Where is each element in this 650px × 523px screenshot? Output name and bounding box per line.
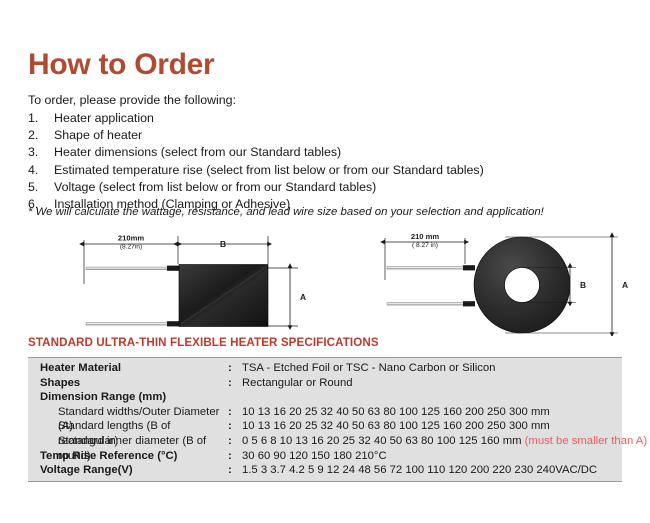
table-row: Temp Rise Reference (°C) : 30 60 90 120 …: [28, 449, 622, 464]
round-outer-diameter-label: A: [622, 280, 628, 290]
spec-row-colon: :: [228, 463, 242, 478]
rect-height-label: A: [300, 292, 306, 302]
round-heater-diagram: 210 mm ( 8.27 in) B A: [385, 232, 628, 333]
spec-row-label: Shapes: [28, 376, 228, 391]
round-heater-hole: [505, 268, 540, 303]
spec-row-colon: :: [228, 361, 242, 376]
spec-row-colon: :: [228, 376, 242, 391]
heater-diagrams: 210mm (8.27in) B A: [0, 228, 650, 336]
table-row: Standard widths/Outer Diameter (A) : 10 …: [28, 405, 622, 420]
spec-row-label: Heater Material: [28, 361, 228, 376]
spec-row-colon: :: [228, 434, 242, 449]
list-item: 5. Voltage (select from list below or fr…: [28, 179, 588, 196]
table-row: Standard lengths (B of rectangular) : 10…: [28, 419, 622, 434]
spec-row-value-text: 0 5 6 8 10 13 16 20 25 32 40 50 63 80 10…: [242, 435, 525, 447]
page-title: How to Order: [28, 50, 214, 80]
round-lead-length-mm-label: 210 mm: [411, 232, 440, 241]
round-inner-diameter-label: B: [580, 280, 586, 290]
spec-row-value: 1.5 3 3.7 4.2 5 9 12 24 48 56 72 100 110…: [242, 463, 622, 478]
rectangular-heater-diagram: 210mm (8.27in) B A: [84, 234, 306, 327]
list-item-label: Heater dimensions (select from our Stand…: [54, 144, 588, 161]
spec-row-label: Dimension Range (mm): [28, 390, 228, 405]
rect-lead-length-in-label: (8.27in): [120, 244, 142, 251]
list-item-number: 2.: [28, 127, 54, 144]
intro-text: To order, please provide the following:: [28, 93, 236, 109]
list-item-number: 3.: [28, 144, 54, 161]
spec-row-value-note: (must be smaller than A): [525, 435, 647, 447]
list-item-number: 4.: [28, 162, 54, 179]
list-item-label: Heater application: [54, 110, 588, 127]
spec-row-colon: :: [228, 405, 242, 420]
list-item: 1. Heater application: [28, 110, 588, 127]
spec-row-value: TSA - Etched Foil or TSC - Nano Carbon o…: [242, 361, 622, 376]
spec-row-value: 0 5 6 8 10 13 16 20 25 32 40 50 63 80 10…: [242, 434, 647, 449]
list-item: 3. Heater dimensions (select from our St…: [28, 144, 588, 161]
spec-row-value: Rectangular or Round: [242, 376, 622, 391]
footnote-text: * We will calculate the wattage, resista…: [28, 206, 544, 220]
rect-lead-length-mm-label: 210mm: [118, 234, 144, 243]
spec-row-label: Temp Rise Reference (°C): [28, 449, 228, 464]
table-row: Heater Material : TSA - Etched Foil or T…: [28, 361, 622, 376]
table-row: Standard inner diameter (B of round) : 0…: [28, 434, 622, 449]
spec-row-colon: :: [228, 449, 242, 464]
order-steps-list: 1. Heater application 2. Shape of heater…: [28, 110, 588, 213]
table-row: Shapes : Rectangular or Round: [28, 376, 622, 391]
list-item-label: Voltage (select from list below or from …: [54, 179, 588, 196]
round-lead-length-in-label: ( 8.27 in): [412, 242, 438, 249]
table-row: Dimension Range (mm): [28, 390, 622, 405]
spec-row-label: Voltage Range(V): [28, 463, 228, 478]
list-item-number: 5.: [28, 179, 54, 196]
heater-diagram-svg: 210mm (8.27in) B A: [0, 228, 650, 336]
list-item: 4. Estimated temperature rise (select fr…: [28, 162, 588, 179]
rect-width-label: B: [220, 239, 226, 249]
list-item-label: Shape of heater: [54, 127, 588, 144]
spec-row-value: 30 60 90 120 150 180 210°C: [242, 449, 622, 464]
spec-row-value: 10 13 16 20 25 32 40 50 63 80 100 125 16…: [242, 419, 622, 434]
spec-table: Heater Material : TSA - Etched Foil or T…: [28, 357, 622, 482]
spec-row-colon: :: [228, 419, 242, 434]
list-item-label: Estimated temperature rise (select from …: [54, 162, 588, 179]
list-item-number: 1.: [28, 110, 54, 127]
spec-section-heading: STANDARD ULTRA-THIN FLEXIBLE HEATER SPEC…: [28, 336, 379, 349]
list-item: 2. Shape of heater: [28, 127, 588, 144]
spec-row-value: 10 13 16 20 25 32 40 50 63 80 100 125 16…: [242, 405, 622, 420]
table-row: Voltage Range(V) : 1.5 3 3.7 4.2 5 9 12 …: [28, 463, 622, 478]
